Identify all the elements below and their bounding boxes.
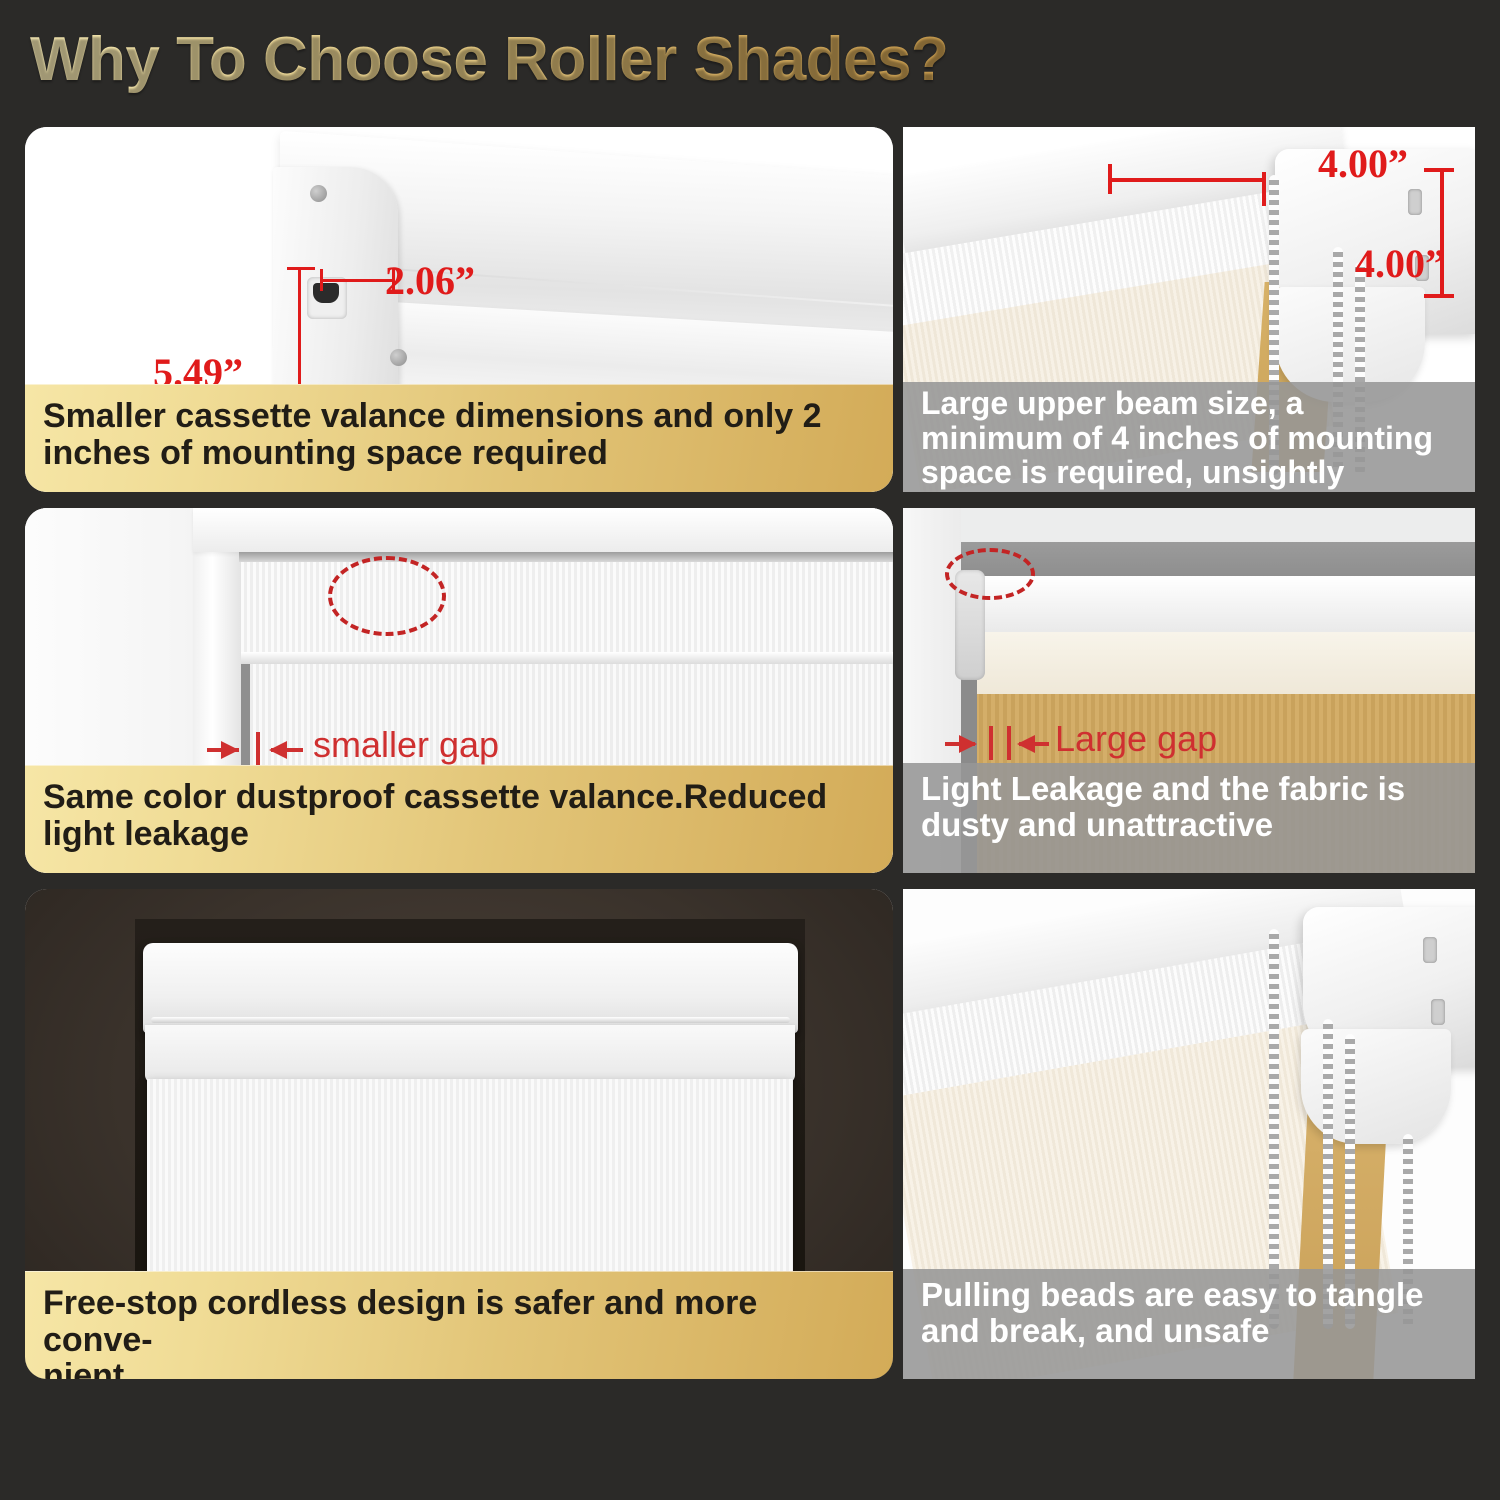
roller-tube-shape: [961, 576, 1475, 634]
width-dimension-label: 2.06”: [385, 257, 475, 304]
caption-line: Same color dustproof cassette valance.Re…: [43, 779, 875, 816]
panel-pulling-beads: Pulling beads are easy to tangle and bre…: [903, 889, 1475, 1379]
caption-line: Large upper beam size, a: [921, 386, 1457, 421]
caption-line: nient: [43, 1358, 875, 1379]
caption-line: Free-stop cordless design is safer and m…: [43, 1285, 875, 1358]
beam-height-dimension-tick-bottom: [1424, 294, 1454, 298]
top-bar-shape: [961, 542, 1475, 580]
beam-width-dimension-tick-left: [1108, 164, 1112, 194]
caption-line: dusty and unattractive: [921, 807, 1457, 843]
window-frame-top-shape: [193, 508, 893, 552]
panel-caption-bad: Light Leakage and the fabric is dusty an…: [903, 763, 1475, 873]
beam-height-dimension-label: 4.00”: [1355, 240, 1445, 287]
panel-caption-good: Same color dustproof cassette valance.Re…: [25, 765, 893, 873]
caption-line: Smaller cassette valance dimensions and …: [43, 398, 875, 435]
caption-line: Pulling beads are easy to tangle: [921, 1277, 1457, 1313]
panel-dustproof-valance: smaller gap Same color dustproof cassett…: [25, 508, 893, 873]
panel-caption-good: Smaller cassette valance dimensions and …: [25, 384, 893, 492]
roller-tube-shape: [145, 1025, 795, 1083]
header: Why To Choose Roller Shades?: [30, 18, 1090, 100]
gap-arrow-right-icon: [221, 741, 239, 759]
valance-rail-shape: [239, 552, 893, 562]
beam-width-dimension-label: 4.00”: [1318, 140, 1408, 187]
height-dimension-tick-top: [287, 267, 315, 270]
cream-fabric-shape: [961, 632, 1475, 694]
panel-caption-bad: Large upper beam size, a minimum of 4 in…: [903, 382, 1475, 492]
gap-arrow-left-icon: [269, 741, 287, 759]
highlight-ellipse-icon: [945, 548, 1035, 600]
caption-line: Light Leakage and the fabric is: [921, 771, 1457, 807]
panel-caption-bad: Pulling beads are easy to tangle and bre…: [903, 1269, 1475, 1379]
width-dimension-line: [320, 279, 395, 282]
panel-cassette-valance: 2.06” 5.49” Smaller cassette valance dim…: [25, 127, 893, 492]
cassette-valance-shape: [143, 943, 798, 1033]
beam-width-dimension-line: [1110, 178, 1265, 182]
bracket-hole-shape: [1431, 999, 1445, 1025]
beam-width-dimension-tick-right: [1262, 172, 1266, 206]
width-dimension-tick-left: [320, 269, 323, 291]
caption-line: minimum of 4 inches of mounting: [921, 421, 1457, 456]
caption-line: and break, and unsafe: [921, 1313, 1457, 1349]
caption-line: inches of mounting space required: [43, 435, 875, 472]
panel-cordless-design: Free-stop cordless design is safer and m…: [25, 889, 893, 1379]
bracket-hole-shape: [1408, 189, 1422, 215]
panel-light-leakage: Large gap Light Leakage and the fabric i…: [903, 508, 1475, 873]
screw-icon: [390, 349, 407, 366]
panel-caption-good: Free-stop cordless design is safer and m…: [25, 1271, 893, 1379]
bracket-hole-shape: [1423, 937, 1437, 963]
caption-line: light leakage: [43, 816, 875, 853]
beam-height-dimension-tick-top: [1424, 168, 1454, 172]
gap-tick-right: [1007, 726, 1011, 760]
gap-tick-left: [256, 732, 260, 766]
gap-arrow-right-icon: [959, 735, 977, 753]
highlight-ellipse-icon: [328, 556, 446, 636]
gap-label: Large gap: [1055, 718, 1217, 760]
shade-edge-shape: [241, 652, 893, 664]
bracket-slot-shape: [307, 277, 347, 319]
screw-icon: [310, 185, 327, 202]
gap-label: smaller gap: [313, 724, 499, 766]
page-title: Why To Choose Roller Shades?: [30, 24, 948, 95]
caption-line: space is required, unsightly: [921, 455, 1457, 490]
gap-arrow-left-icon: [1017, 735, 1035, 753]
gap-tick-left: [989, 726, 993, 760]
